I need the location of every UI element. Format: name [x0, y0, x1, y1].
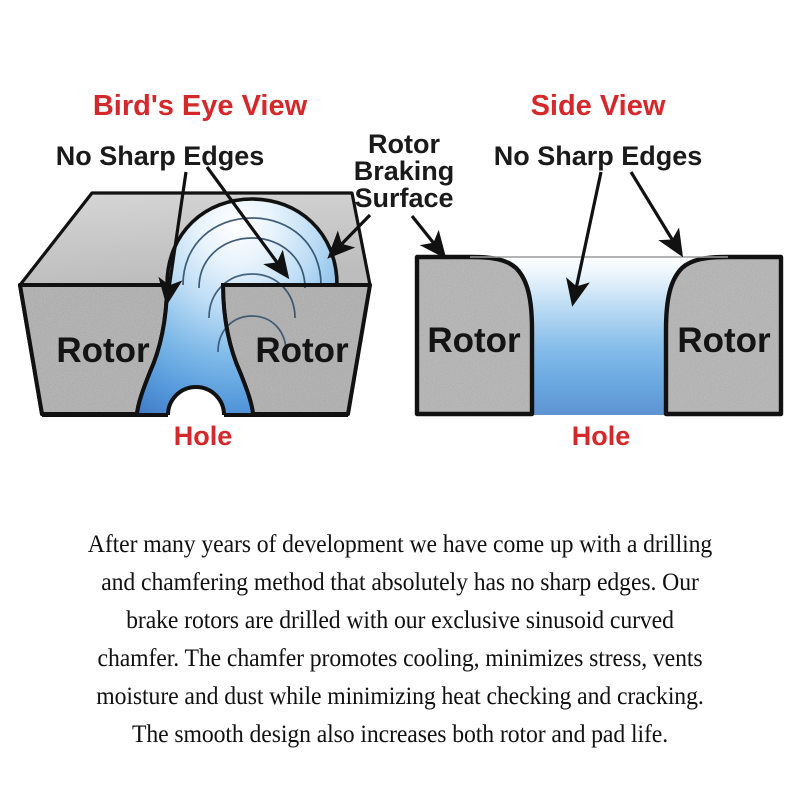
hole-label-right: Hole — [572, 421, 631, 451]
rotor-braking-surface-label-line3: Surface — [354, 183, 453, 213]
rotor-braking-surface-label-line1: Rotor — [368, 129, 440, 159]
arrow-braking-surface-to-side — [412, 216, 444, 256]
no-sharp-edges-label-right: No Sharp Edges — [494, 141, 703, 171]
caption-line: and chamfering method that absolutely ha… — [28, 563, 772, 601]
rotor-braking-surface-label-line2: Braking — [354, 156, 455, 186]
caption-line: After many years of development we have … — [28, 525, 772, 563]
caption-line: The smooth design also increases both ro… — [28, 715, 772, 753]
caption-line: moisture and dust while minimizing heat … — [28, 677, 772, 715]
rotor-label-left-3d: Rotor — [56, 331, 150, 370]
birds-eye-view-group: Rotor Rotor — [20, 193, 370, 415]
no-sharp-edges-label-left: No Sharp Edges — [56, 141, 265, 171]
caption-line: chamfer. The chamfer promotes cooling, m… — [28, 639, 772, 677]
side-view-title: Side View — [531, 90, 666, 122]
arrow-no-sharp-edges-right-outer — [631, 172, 681, 254]
hole-label-left: Hole — [174, 421, 233, 451]
rotor-label-left-side: Rotor — [427, 321, 521, 360]
side-view-group: Rotor Rotor — [417, 256, 781, 415]
caption-paragraph: After many years of development we have … — [0, 525, 800, 753]
rotor-label-right-side: Rotor — [677, 321, 771, 360]
rotor-label-right-3d: Rotor — [255, 331, 349, 370]
birds-eye-view-title: Bird's Eye View — [93, 90, 308, 122]
diagram-page: Rotor Rotor Rotor Rotor — [0, 0, 800, 800]
caption-line: brake rotors are drilled with our exclus… — [28, 601, 772, 639]
